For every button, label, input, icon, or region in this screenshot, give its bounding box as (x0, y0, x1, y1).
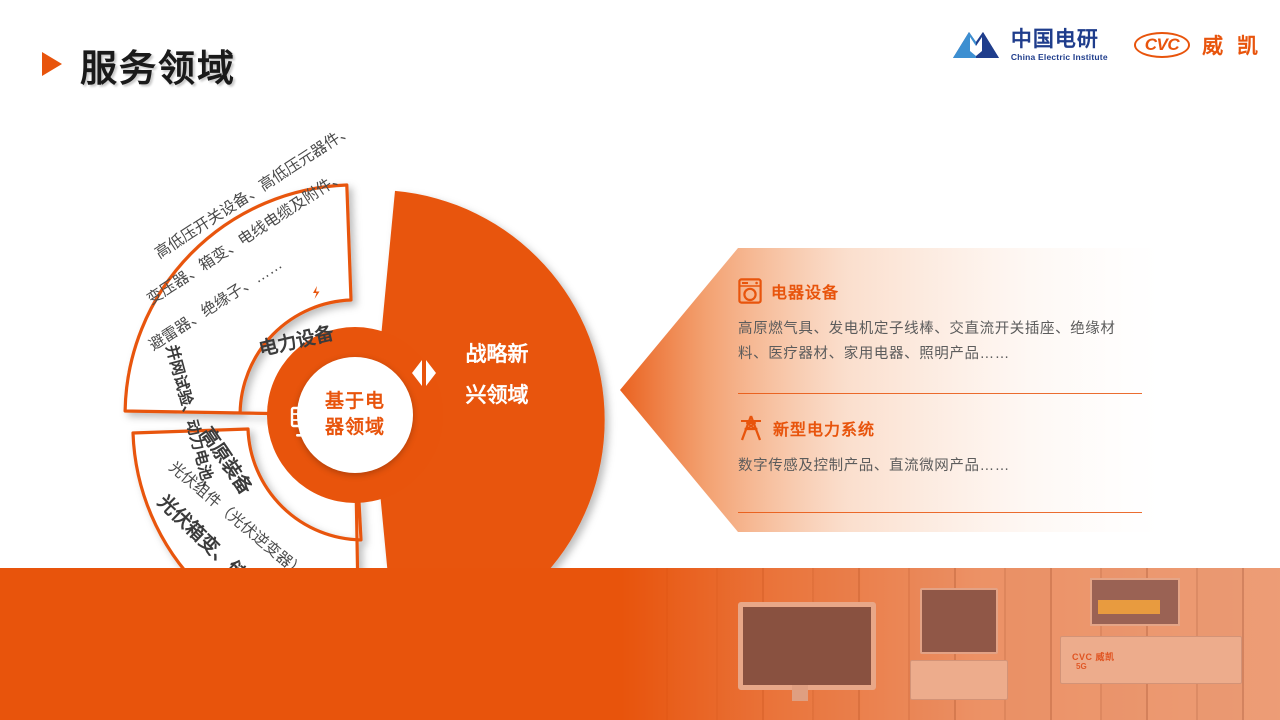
triangle-right-icon (42, 52, 62, 76)
cvc-mark: CVC (1134, 32, 1190, 58)
photo-spectrum-trace (1098, 600, 1160, 614)
footer-band: CVC 威凯 5G (0, 568, 1280, 720)
cvc-cn-text: 威 凯 (1202, 30, 1262, 60)
photo-rack-box-1 (910, 660, 1008, 700)
panel-divider-1 (738, 393, 1142, 394)
photo-rack-screen-1 (920, 588, 998, 654)
panel-item-new-power-system: 新型电力系统 数字传感及控制产品、直流微网产品…… (738, 415, 1142, 479)
logo-cvc-weikai: CVC 威 凯 (1134, 30, 1262, 60)
transmission-tower-icon (738, 415, 764, 441)
panel-divider-2 (738, 512, 1142, 513)
logo-cei-en-text: China Electric Institute (1011, 53, 1108, 62)
logo-china-electric-institute: 中国电研 China Electric Institute (949, 28, 1108, 62)
hub-label-line1: 基于电 (325, 389, 385, 415)
panel-title-electrical-appliances: 电器设备 (771, 279, 839, 303)
photo-monitor (738, 602, 876, 690)
transformer-icon (294, 272, 336, 308)
sector-strategic-emerging-label: 战略新 兴领域 (432, 335, 562, 417)
panel-desc-electrical-appliances: 高原燃气具、发电机定子线棒、交直流开关插座、绝缘材料、医疗器材、家用电器、照明产… (738, 317, 1142, 368)
mountain-icon (949, 28, 1003, 62)
service-domain-donut-diagram: 基于电 器领域 战略新 兴领域 高低压开关设备、高低压元器件、 变压器、箱变、电… (80, 120, 640, 620)
page-title: 服务领域 (80, 38, 236, 92)
panel-title-new-power-system: 新型电力系统 (773, 416, 875, 440)
photo-5g-label: 5G (1076, 662, 1087, 671)
strategic-label-line2: 兴领域 (432, 376, 562, 417)
panel-item-electrical-appliances: 电器设备 高原燃气具、发电机定子线棒、交直流开关插座、绝缘材料、医疗器材、家用电… (738, 278, 1142, 368)
hub-label-line2: 器领域 (325, 415, 385, 441)
photo-monitor-stand (792, 685, 808, 701)
washing-machine-icon (738, 278, 762, 304)
slide-header: 服务领域 中国电研 China Electric Institute CVC 威… (0, 0, 1280, 110)
right-detail-panel: 电器设备 高原燃气具、发电机定子线棒、交直流开关插座、绝缘材料、医疗器材、家用电… (620, 240, 1160, 540)
panel-item-header: 新型电力系统 (738, 415, 1142, 441)
strategic-label-line1: 战略新 (432, 335, 562, 376)
panel-item-header: 电器设备 (738, 278, 1142, 304)
solar-panel-icon (286, 404, 328, 444)
logo-cei-cn-text: 中国电研 (1011, 29, 1108, 50)
lab-equipment-rack-photo: CVC 威凯 5G (620, 568, 1280, 720)
panel-content: 电器设备 高原燃气具、发电机定子线棒、交直流开关插座、绝缘材料、医疗器材、家用电… (738, 240, 1158, 540)
panel-desc-new-power-system: 数字传感及控制产品、直流微网产品…… (738, 454, 1142, 479)
logo-area: 中国电研 China Electric Institute CVC 威 凯 (949, 28, 1262, 62)
